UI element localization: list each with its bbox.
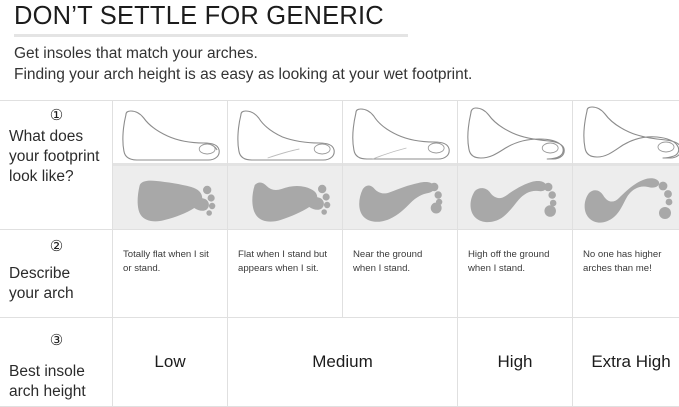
table-row-insole: ③ Best insole arch height Low Medium Hig… (0, 317, 679, 406)
footprint-illustration-low-arch (228, 101, 342, 229)
row-label-insole: ③ Best insole arch height (0, 318, 113, 406)
step-number-3: ③ (9, 332, 104, 350)
footprint-illustration-extra-high-arch (573, 101, 679, 229)
describe-cell-extra-high-arch: No one has higher arches than me! (573, 230, 679, 317)
footprint-cell-high-arch (458, 101, 573, 229)
describe-cell-flat-arch: Totally flat when I sit or stand. (113, 230, 228, 317)
step-number-2: ② (9, 238, 104, 256)
footprint-cell-medium-arch (343, 101, 458, 229)
row-label-footprint: ① What does your footprint look like? (0, 101, 113, 229)
insole-cell-medium: Medium (228, 318, 458, 406)
insole-value-medium: Medium (312, 351, 372, 373)
describe-text-extra-high-arch: No one has higher arches than me! (573, 230, 679, 275)
describe-text-high-arch: High off the ground when I stand. (458, 230, 572, 275)
describe-cell-medium-arch: Near the ground when I stand. (343, 230, 458, 317)
title-divider (14, 34, 408, 37)
subtitle-line-2: Finding your arch height is as easy as l… (14, 64, 679, 85)
insole-value-high: High (498, 351, 533, 373)
footprint-illustration-medium-arch (343, 101, 457, 229)
footprint-cell-flat-arch (113, 101, 228, 229)
row-label-footprint-text: What does your footprint look like? (9, 127, 104, 187)
arch-height-infographic: DON’T SETTLE FOR GENERIC Get insoles tha… (0, 0, 679, 407)
describe-cell-low-arch: Flat when I stand but appears when I sit… (228, 230, 343, 317)
insole-cell-extra-high: Extra High (573, 318, 679, 406)
describe-cell-high-arch: High off the ground when I stand. (458, 230, 573, 317)
row-label-insole-text: Best insole arch height (9, 362, 104, 402)
page-title: DON’T SETTLE FOR GENERIC (14, 2, 679, 30)
insole-cell-high: High (458, 318, 573, 406)
footprint-illustration-high-arch (458, 101, 572, 229)
footprint-cell-extra-high-arch (573, 101, 679, 229)
describe-text-low-arch: Flat when I stand but appears when I sit… (228, 230, 342, 275)
header: DON’T SETTLE FOR GENERIC Get insoles tha… (0, 0, 679, 85)
describe-text-flat-arch: Totally flat when I sit or stand. (113, 230, 227, 275)
insole-cell-low: Low (113, 318, 228, 406)
insole-value-extra-high: Extra High (591, 351, 670, 373)
footprint-cell-low-arch (228, 101, 343, 229)
footprint-illustration-flat-arch (113, 101, 227, 229)
table-row-describe: ② Describe your arch Totally flat when I… (0, 229, 679, 317)
row-label-describe-text: Describe your arch (9, 264, 104, 304)
step-number-1: ① (9, 107, 104, 125)
describe-text-medium-arch: Near the ground when I stand. (343, 230, 457, 275)
insole-value-low: Low (154, 351, 185, 373)
arch-comparison-table: ① What does your footprint look like? (0, 100, 679, 407)
row-label-describe: ② Describe your arch (0, 230, 113, 317)
table-row-footprint: ① What does your footprint look like? (0, 101, 679, 229)
subtitle-line-1: Get insoles that match your arches. (14, 43, 679, 64)
